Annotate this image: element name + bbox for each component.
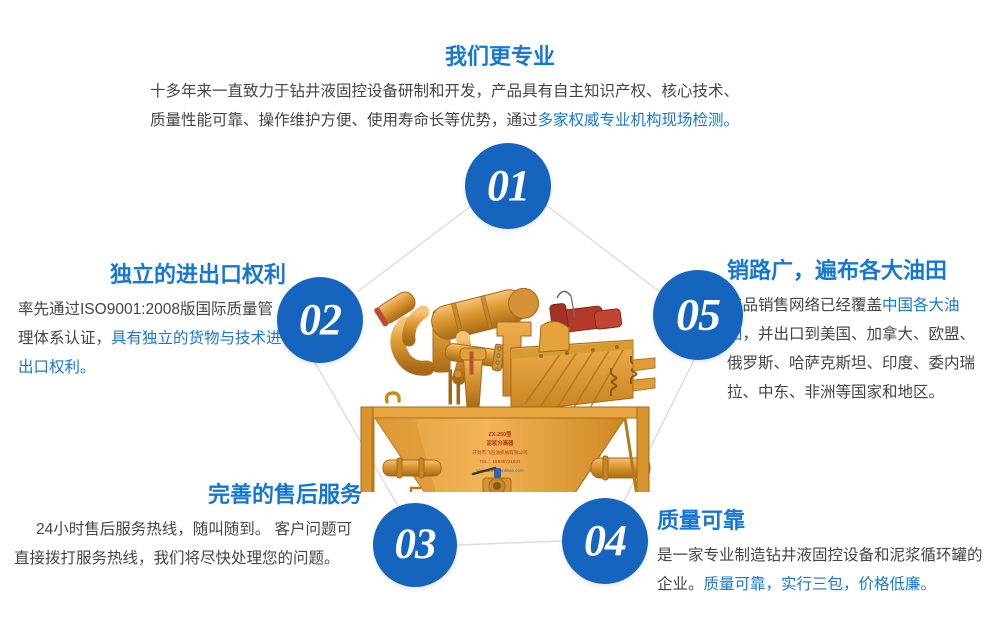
- feature-title-04: 质量可靠: [657, 508, 993, 534]
- feature-body-03: 24小时售后服务热线，随叫随到。 客户问题可直接拨打服务热线，我们将尽快处理您的…: [14, 515, 362, 573]
- feature-block-02: 独立的进出口权利 率先通过ISO9001:2008版国际质量管理体系认证，具有独…: [18, 262, 286, 382]
- feature-block-04: 质量可靠 是一家专业制造钻井液固控设备和泥浆循环罐的企业。质量可靠，实行三包，价…: [657, 508, 993, 599]
- svg-text:TEL：15936731031: TEL：15936731031: [479, 459, 521, 464]
- feature-block-03: 完善的售后服务 24小时售后服务热线，随叫随到。 客户问题可直接拨打服务热线，我…: [14, 482, 362, 573]
- feature-body-01: 十多年来一直致力于钻井液固控设备研制和开发，产品具有自主知识产权、核心技术、 质…: [150, 77, 850, 135]
- feature-body-01-line2-highlight: 多家权威专业机构现场检测。: [538, 112, 740, 129]
- step-badge-01[interactable]: 01: [465, 143, 551, 229]
- svg-text:开封市飞石油机械有限公司: 开封市飞石油机械有限公司: [472, 449, 528, 456]
- step-badge-04[interactable]: 04: [562, 498, 648, 584]
- feature-block-05: 销路广，遍布各大油田 产品销售网络已经覆盖中国各大油田，并出口到美国、加拿大、欧…: [727, 258, 989, 407]
- svg-text:ZX-250型: ZX-250型: [488, 430, 512, 438]
- svg-text:泥浆分离器: 泥浆分离器: [487, 439, 515, 447]
- feature-body-04: 是一家专业制造钻井液固控设备和泥浆循环罐的企业。质量可靠，实行三包，价格低廉。: [657, 541, 993, 599]
- feature-body-04-highlight: 质量可靠，实行三包，价格低廉。: [704, 576, 937, 593]
- feature-body-05-plain-1: 产品销售网络已经覆盖: [727, 297, 882, 314]
- step-badge-05-label: 05: [676, 288, 720, 341]
- feature-title-03: 完善的售后服务: [14, 482, 362, 508]
- step-badge-02[interactable]: 02: [277, 277, 363, 363]
- promo-infographic: ZX-250型 泥浆分离器 开封市飞石油机械有限公司 TEL：159367310…: [0, 0, 1000, 642]
- step-badge-02-label: 02: [299, 294, 341, 345]
- step-badge-04-label: 04: [584, 515, 626, 566]
- feature-body-05-plain-2: ，并出口到美国、加拿大、欧盟、俄罗斯、哈萨克斯坦、印度、委内瑞拉、中东、非洲等国…: [727, 326, 975, 401]
- feature-body-05: 产品销售网络已经覆盖中国各大油田，并出口到美国、加拿大、欧盟、俄罗斯、哈萨克斯坦…: [727, 291, 989, 407]
- step-badge-03[interactable]: 03: [373, 503, 457, 587]
- step-badge-05[interactable]: 05: [653, 270, 743, 360]
- mud-separator-machine-image: ZX-250型 泥浆分离器 开封市飞石油机械有限公司 TEL：159367310…: [345, 252, 663, 492]
- feature-title-01: 我们更专业: [150, 44, 850, 70]
- feature-title-05: 销路广，遍布各大油田: [727, 258, 989, 284]
- step-badge-03-label: 03: [395, 520, 436, 569]
- feature-body-01-line2-plain: 质量性能可靠、操作维护方便、使用寿命长等优势，通过: [150, 112, 538, 129]
- feature-title-02: 独立的进出口权利: [18, 262, 286, 288]
- step-badge-01-label: 01: [487, 160, 529, 211]
- feature-body-02: 率先通过ISO9001:2008版国际质量管理体系认证，具有独立的货物与技术进出…: [18, 295, 286, 382]
- feature-block-01: 我们更专业 十多年来一直致力于钻井液固控设备研制和开发，产品具有自主知识产权、核…: [150, 44, 850, 135]
- feature-body-01-line1: 十多年来一直致力于钻井液固控设备研制和开发，产品具有自主知识产权、核心技术、: [150, 83, 739, 100]
